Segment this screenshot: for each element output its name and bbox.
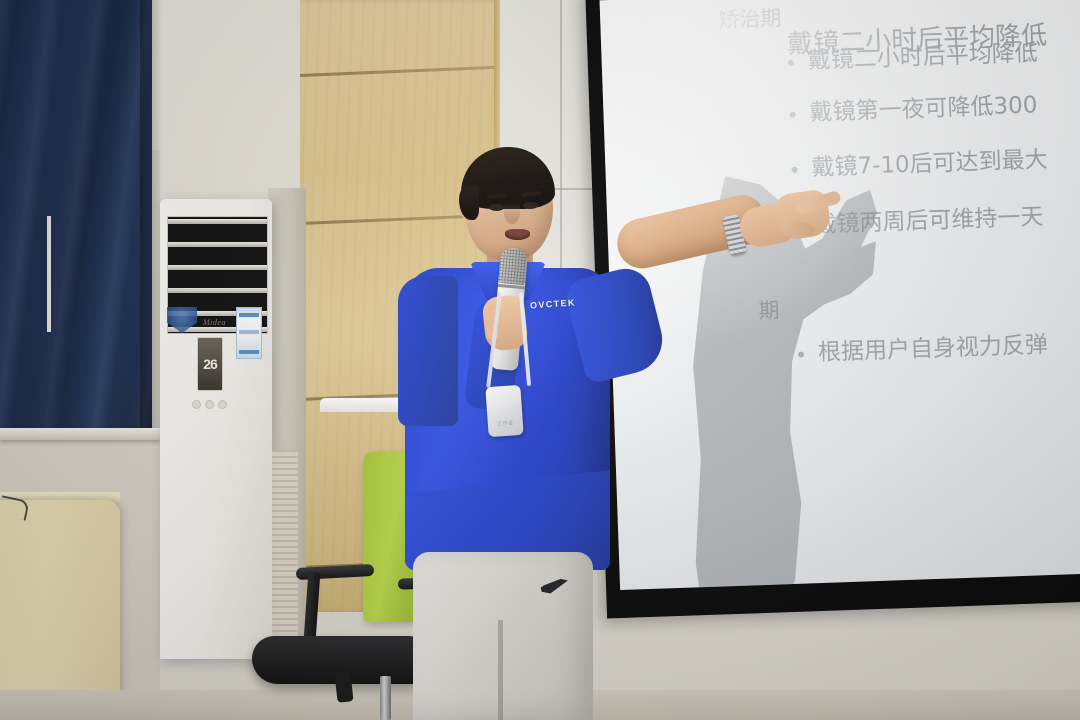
fan-button[interactable]: [218, 400, 227, 409]
grille-divider: [47, 216, 51, 332]
slide-bullet-2-text: 戴镜第一夜可降低300: [809, 92, 1038, 126]
presenter-mouth: [505, 229, 530, 240]
presenter-eye-right: [523, 202, 538, 209]
id-badge: 工作证: [485, 385, 523, 437]
temperature-value: 26: [203, 357, 217, 371]
energy-label-sticker: [236, 307, 262, 359]
photo-scene: Midea 26 矫治期 戴镜二小时后平均降低 戴镜二小时后平均降低 戴镜第一夜…: [0, 0, 1080, 720]
air-conditioner-brand: Midea: [203, 318, 226, 327]
presenter-eye-left: [489, 204, 504, 211]
curtain-shadow: [140, 0, 162, 436]
bullet-icon: [798, 351, 804, 357]
presentation-slide: 矫治期 戴镜二小时后平均降低 戴镜二小时后平均降低 戴镜第一夜可降低300 戴镜…: [600, 0, 1080, 590]
chair-gas-cylinder: [380, 676, 391, 720]
mode-button[interactable]: [205, 400, 214, 409]
bullet-icon: [788, 59, 794, 65]
microphone-grille: [498, 247, 528, 285]
curtain-rail: [0, 428, 160, 440]
power-button[interactable]: [192, 400, 201, 409]
id-badge-text: 工作证: [488, 419, 523, 428]
projection-screen-surface: 矫治期 戴镜二小时后平均降低 戴镜二小时后平均降低 戴镜第一夜可降低300 戴镜…: [600, 0, 1080, 590]
presenter-nose: [504, 202, 520, 224]
chair-height-lever[interactable]: [334, 671, 353, 703]
slide-bullet-1-text: 戴镜二小时后平均降低: [807, 40, 1038, 74]
bullet-icon: [791, 166, 797, 172]
pants-seam: [498, 620, 503, 720]
air-conditioner-display: 26: [197, 337, 223, 391]
air-conditioner-buttons[interactable]: [192, 400, 228, 409]
air-conditioner-side-vent: [272, 450, 298, 660]
slide-bullet-3-text: 戴镜7-10后可达到最大: [811, 147, 1048, 181]
bullet-icon: [790, 111, 796, 117]
slide-bullet-5-text: 根据用户自身视力反弹: [818, 332, 1049, 366]
presenter-left-shoulder: [398, 276, 458, 426]
window-curtain: [0, 0, 152, 432]
projection-screen-frame: 矫治期 戴镜二小时后平均降低 戴镜二小时后平均降低 戴镜第一夜可降低300 戴镜…: [585, 0, 1080, 619]
podium-desk: [0, 500, 120, 720]
slide-heading: 矫治期: [718, 2, 782, 34]
presenter-pants: [413, 552, 593, 720]
